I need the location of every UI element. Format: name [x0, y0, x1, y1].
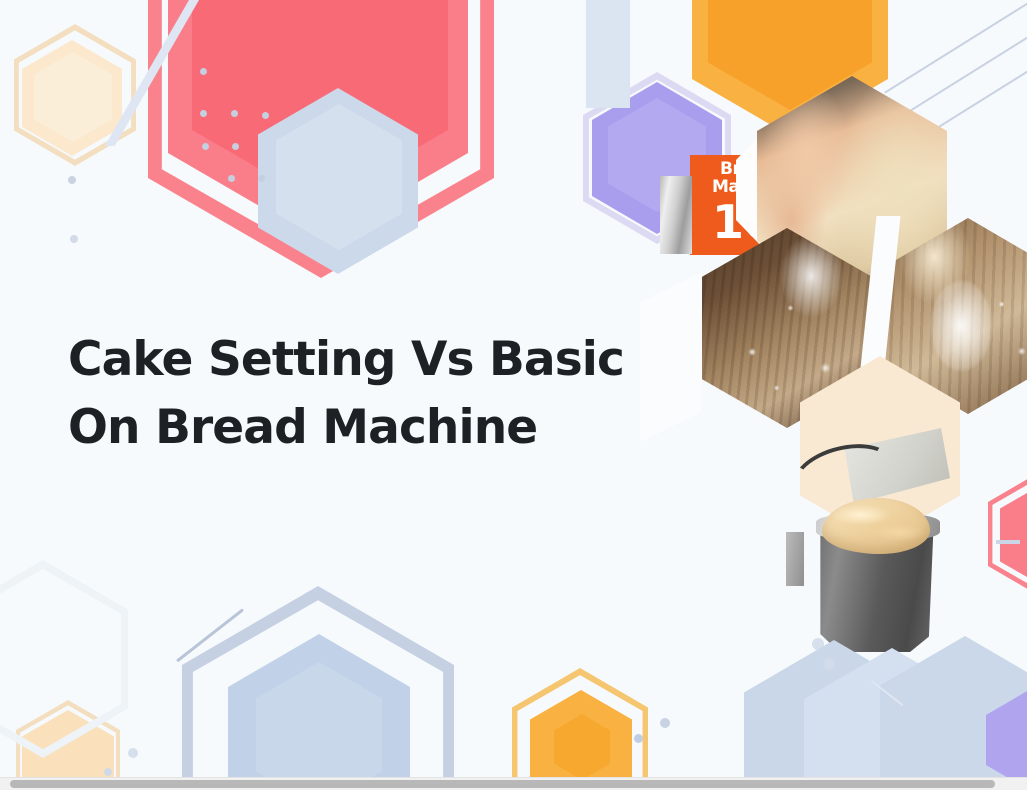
hero-title-block: Cake Setting Vs Basic On Bread Machine: [68, 326, 668, 462]
metal-tab: [786, 532, 804, 586]
dot-accent: [200, 110, 207, 117]
horizontal-scrollbar-track[interactable]: [0, 777, 1027, 790]
page-title-line-1: Cake Setting Vs Basic: [68, 326, 668, 394]
dot-accent: [70, 235, 78, 243]
hero-banner-canvas: Bread Making 101: [0, 0, 1027, 790]
bread-machine-pan-photo: [786, 420, 986, 660]
dot-accent: [128, 748, 138, 758]
horizontal-scrollbar-thumb[interactable]: [10, 780, 995, 788]
dot-accent: [258, 175, 265, 182]
dot-accent: [202, 143, 209, 150]
dot-accent: [104, 768, 112, 776]
dot-accent: [823, 658, 835, 670]
metal-sliver: [660, 176, 692, 254]
dot-accent: [68, 176, 76, 184]
dot-accent: [262, 112, 269, 119]
diagonal-line-accent: [996, 540, 1020, 544]
hexagon-shape: [586, 0, 630, 108]
bread-loaf: [822, 498, 930, 554]
dot-accent: [232, 143, 239, 150]
dot-accent: [660, 718, 670, 728]
page-title-line-2: On Bread Machine: [68, 394, 668, 462]
dot-accent: [231, 110, 238, 117]
dot-accent: [200, 68, 207, 75]
dot-accent: [228, 175, 235, 182]
dot-accent: [634, 734, 643, 743]
